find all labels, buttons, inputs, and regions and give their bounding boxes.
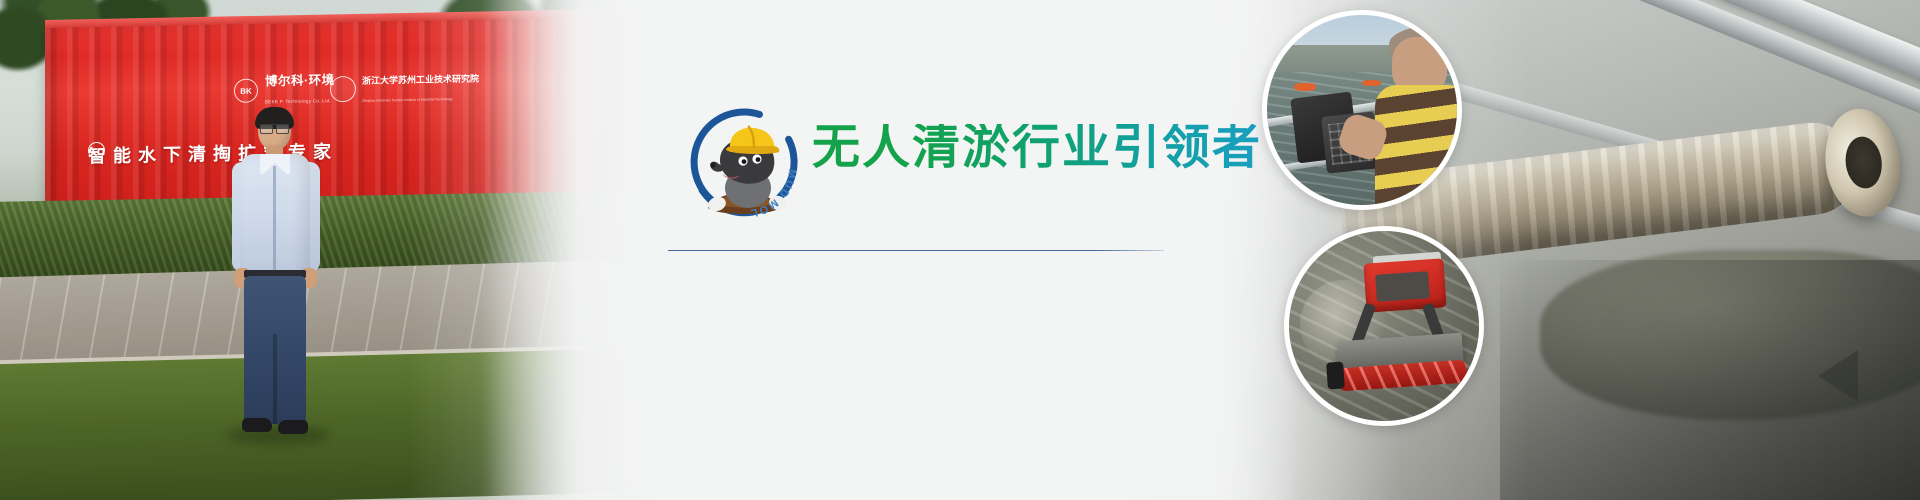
robot-inner-module	[1376, 271, 1431, 301]
banner-headline: 无人清淤行业引领者	[812, 124, 1262, 172]
robot-auger-endcap	[1326, 362, 1345, 390]
headline-divider	[668, 250, 1164, 251]
container-brand-secondary-sub: Zhejiang University Suzhou Institute of …	[362, 97, 453, 103]
container-brand-secondary: 浙江大学苏州工业技术研究院 Zhejiang University Suzhou…	[330, 69, 479, 108]
figure-shirt-placket	[273, 166, 276, 270]
university-emblem-icon	[330, 76, 356, 102]
arrow-shape-icon	[1818, 350, 1858, 402]
circle-photo-dredging-robot	[1284, 226, 1484, 426]
figure-glasses	[260, 124, 289, 132]
orange-float-a	[1294, 83, 1317, 91]
figure-left-shoe	[242, 418, 272, 432]
operator-person	[1373, 23, 1462, 205]
hero-banner: BK 博尔科·环境 BEKE P. Technology Co.,Ltd. 浙江…	[0, 0, 1920, 500]
centre-content-block: MUD MOLE 无人清淤行业引领者	[660, 96, 1180, 266]
brand-emblem-icon: BK	[234, 79, 258, 103]
figure-right-shoe	[278, 420, 308, 434]
left-photo-engineer-container: BK 博尔科·环境 BEKE P. Technology Co.,Ltd. 浙江…	[0, 0, 660, 500]
container-brand-secondary-label: 浙江大学苏州工业技术研究院	[362, 74, 479, 86]
mud-mole-logo: MUD MOLE	[686, 104, 802, 220]
operator-striped-shirt	[1375, 85, 1462, 205]
engineer-figure	[222, 110, 332, 440]
container-brand-primary-label: 博尔科·环境	[265, 73, 335, 88]
container-brand-primary: BK 博尔科·环境 BEKE P. Technology Co.,Ltd.	[234, 71, 335, 109]
circle-photo-operator	[1262, 10, 1462, 210]
figure-trousers	[244, 276, 306, 424]
container-brand-primary-sub: BEKE P. Technology Co.,Ltd.	[265, 98, 331, 104]
